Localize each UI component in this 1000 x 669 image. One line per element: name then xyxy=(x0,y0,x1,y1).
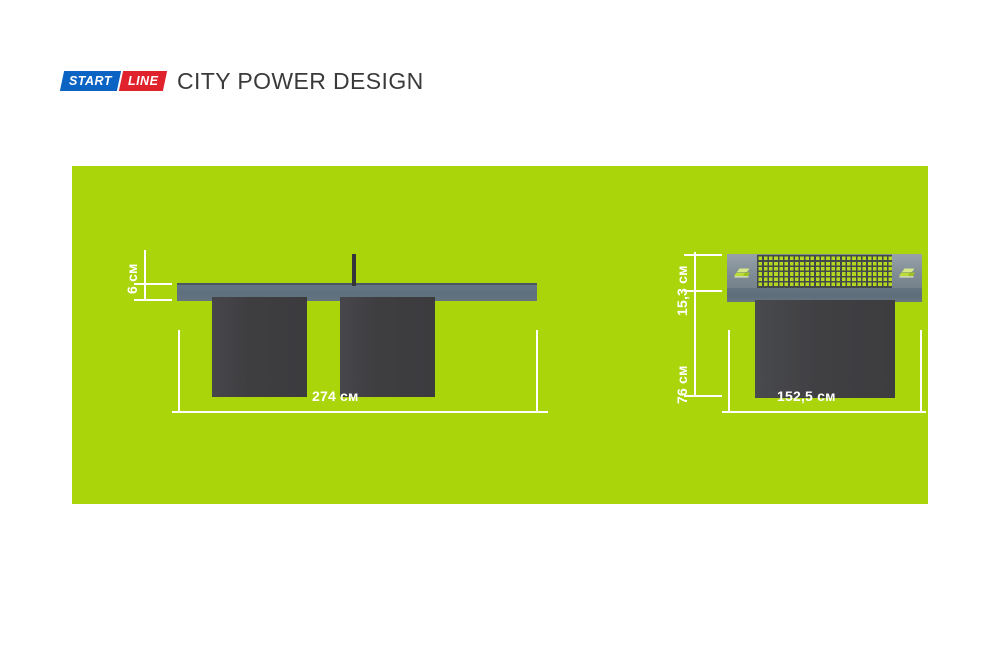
logo-line-text: LINE xyxy=(128,75,158,88)
startline-logo: START LINE xyxy=(62,71,165,91)
startline-emblem-icon xyxy=(896,264,918,281)
table-leg-right xyxy=(340,297,435,397)
dim-width-line xyxy=(722,411,926,413)
dim-net-height-tick-top xyxy=(684,254,722,256)
dim-thickness-line xyxy=(144,250,146,300)
net-mesh xyxy=(757,255,892,288)
logo-start-chip: START xyxy=(60,71,121,91)
dim-width-ext-left xyxy=(728,330,730,412)
dim-length-ext-right xyxy=(536,330,538,412)
diagram-stage: 6 см 274 см xyxy=(72,166,928,504)
dim-table-height-line xyxy=(694,292,696,396)
table-leg-end xyxy=(755,300,895,398)
dim-net-height-label: 15,3 см xyxy=(674,265,690,316)
dim-thickness-tick-bottom xyxy=(134,299,172,301)
dim-width-label: 152,5 см xyxy=(777,388,836,404)
logo-line-chip: LINE xyxy=(119,71,167,91)
net-post-left xyxy=(727,254,757,290)
startline-emblem-icon xyxy=(731,264,753,281)
page-title: CITY POWER DESIGN xyxy=(177,68,424,95)
net-post-right xyxy=(892,254,922,290)
side-elevation-view: 6 см 274 см xyxy=(72,166,542,504)
dim-thickness-label: 6 см xyxy=(124,263,140,294)
dim-table-height-label: 76 см xyxy=(674,365,690,404)
dim-net-height-line xyxy=(694,252,696,292)
dim-length-line xyxy=(172,411,548,413)
dim-width-ext-right xyxy=(920,330,922,412)
net-post-side xyxy=(352,254,356,286)
brand-header: START LINE CITY POWER DESIGN xyxy=(62,66,424,96)
logo-start-text: START xyxy=(69,75,112,88)
net-assembly xyxy=(727,254,922,290)
dim-length-ext-left xyxy=(178,330,180,412)
table-leg-left xyxy=(212,297,307,397)
end-elevation-view: 15,3 см 76 см 152,5 см xyxy=(592,166,928,504)
dim-length-label: 274 см xyxy=(312,388,359,404)
